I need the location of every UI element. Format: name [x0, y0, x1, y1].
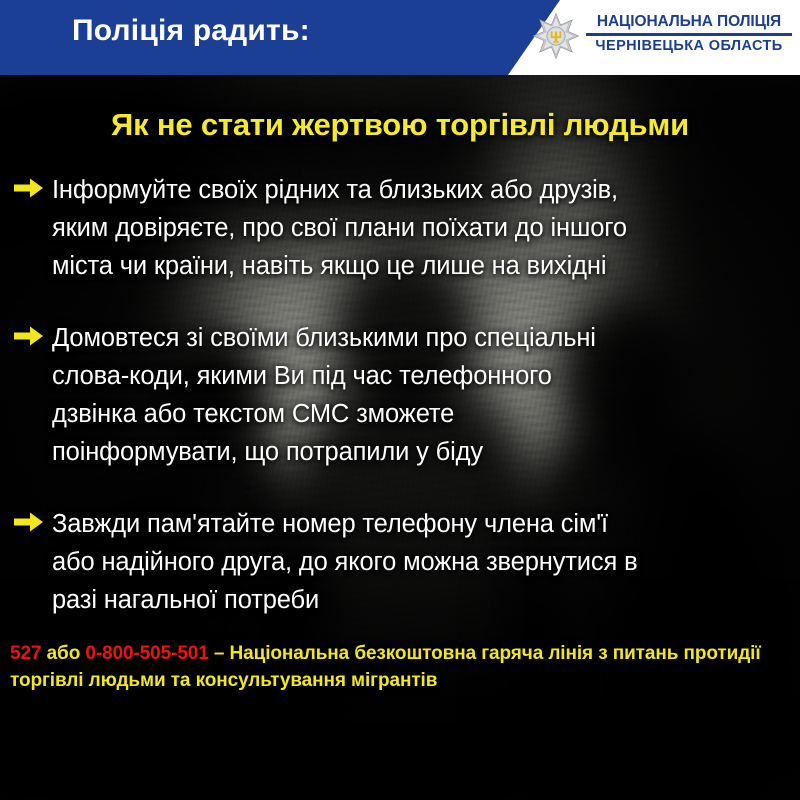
logo-divider	[586, 33, 792, 36]
logo-text-block: НАЦІОНАЛЬНА ПОЛІЦІЯ ЧЕРНІВЕЦЬКА ОБЛАСТЬ	[586, 13, 792, 54]
tip-item: Завжди пам'ятайте номер телефону члена с…	[14, 505, 786, 619]
police-advice-poster: Поліція радить: НАЦІОНАЛЬНА ПОЛІЦІЯ ЧЕРН…	[0, 0, 800, 800]
header-banner: Поліція радить: НАЦІОНАЛЬНА ПОЛІЦІЯ ЧЕРН…	[0, 0, 800, 75]
arrow-right-icon	[14, 171, 48, 204]
logo-line-region: ЧЕРНІВЕЦЬКА ОБЛАСТЬ	[586, 38, 792, 54]
arrow-right-icon	[14, 505, 48, 538]
tip-item: Домовтеся зі своїми близькими про спеціа…	[14, 319, 786, 471]
arrow-right-svg	[14, 177, 44, 199]
arrow-right-svg	[14, 511, 44, 533]
tip-item: Інформуйте своїх рідних та близьких або …	[14, 171, 786, 285]
arrow-right-svg	[14, 325, 44, 347]
tips-list: Інформуйте своїх рідних та близьких або …	[14, 171, 786, 653]
poster-content: Як не стати жертвою торгівлі людьми Інфо…	[0, 75, 800, 800]
badge-star-svg	[533, 13, 579, 59]
tip-text: Домовтеся зі своїми близькими про спеціа…	[52, 319, 786, 471]
hotline-footer: 527 або 0-800-505-501 – Національна безк…	[10, 640, 794, 694]
hotline-phone-number: 0-800-505-501	[85, 643, 208, 664]
poster-title: Як не стати жертвою торгівлі людьми	[0, 107, 800, 143]
tip-text: Інформуйте своїх рідних та близьких або …	[52, 171, 786, 285]
hotline-or-word: або	[41, 643, 85, 664]
logo-line-national-police: НАЦІОНАЛЬНА ПОЛІЦІЯ	[586, 13, 792, 31]
tip-text: Завжди пам'ятайте номер телефону члена с…	[52, 505, 786, 619]
hotline-short-number: 527	[10, 643, 41, 664]
police-badge-star-icon	[533, 13, 579, 61]
header-title: Поліція радить:	[72, 14, 310, 48]
arrow-right-icon	[14, 319, 48, 352]
